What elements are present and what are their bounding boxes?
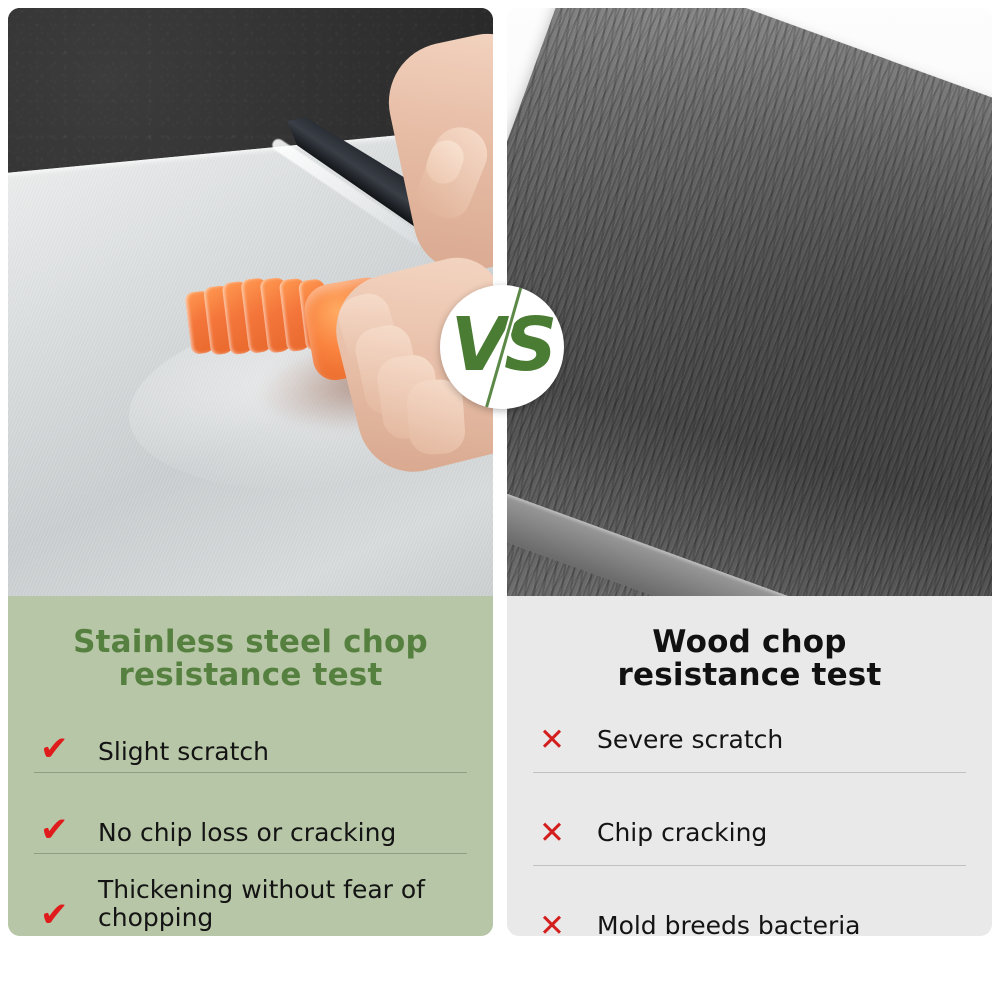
- left-feature-list: ✔ Slight scratch ✔ No chip loss or crack…: [34, 714, 467, 936]
- left-comparison-panel: Stainless steel chop resistance test ✔ S…: [8, 8, 493, 936]
- right-title-line-1: Wood chop: [525, 626, 974, 659]
- list-item: ✕ Severe scratch: [533, 714, 966, 773]
- panel-divider: [493, 0, 507, 1000]
- vs-badge: VS: [440, 285, 564, 409]
- stainless-steel-cutting-board-photo: [8, 8, 493, 596]
- list-item: ✔ No chip loss or cracking: [34, 795, 467, 854]
- scratched-wood-board: [507, 8, 992, 596]
- list-item-label: No chip loss or cracking: [98, 819, 467, 847]
- check-icon: ✔: [34, 732, 98, 766]
- list-item-label: Thickening without fear of chopping: [98, 876, 467, 932]
- right-comparison-panel: Wood chop resistance test ✕ Severe scrat…: [507, 8, 992, 936]
- list-item-label: Slight scratch: [98, 738, 467, 766]
- right-panel-title: Wood chop resistance test: [507, 604, 992, 693]
- list-item-label: Mold breeds bacteria: [597, 912, 966, 936]
- list-item: ✔ Slight scratch: [34, 714, 467, 773]
- cross-icon: ✕: [533, 818, 597, 849]
- list-item: ✔ Thickening without fear of chopping: [34, 876, 467, 936]
- check-icon: ✔: [34, 898, 98, 932]
- left-title-line-2: resistance test: [26, 659, 475, 692]
- comparison-infographic: Stainless steel chop resistance test ✔ S…: [0, 0, 1000, 1000]
- list-item-label: Chip cracking: [597, 819, 966, 847]
- left-panel-title: Stainless steel chop resistance test: [8, 604, 493, 693]
- list-item: ✕ Chip cracking: [533, 807, 966, 866]
- wood-cutting-board-photo: [507, 8, 992, 596]
- check-icon: ✔: [34, 813, 98, 847]
- list-item-label: Severe scratch: [597, 726, 966, 754]
- right-title-line-2: resistance test: [525, 659, 974, 692]
- left-title-line-1: Stainless steel chop: [26, 626, 475, 659]
- cross-icon: ✕: [533, 725, 597, 756]
- cross-icon: ✕: [533, 911, 597, 937]
- right-feature-list: ✕ Severe scratch ✕ Chip cracking ✕ Mold …: [533, 714, 966, 936]
- list-item: ✕ Mold breeds bacteria: [533, 900, 966, 936]
